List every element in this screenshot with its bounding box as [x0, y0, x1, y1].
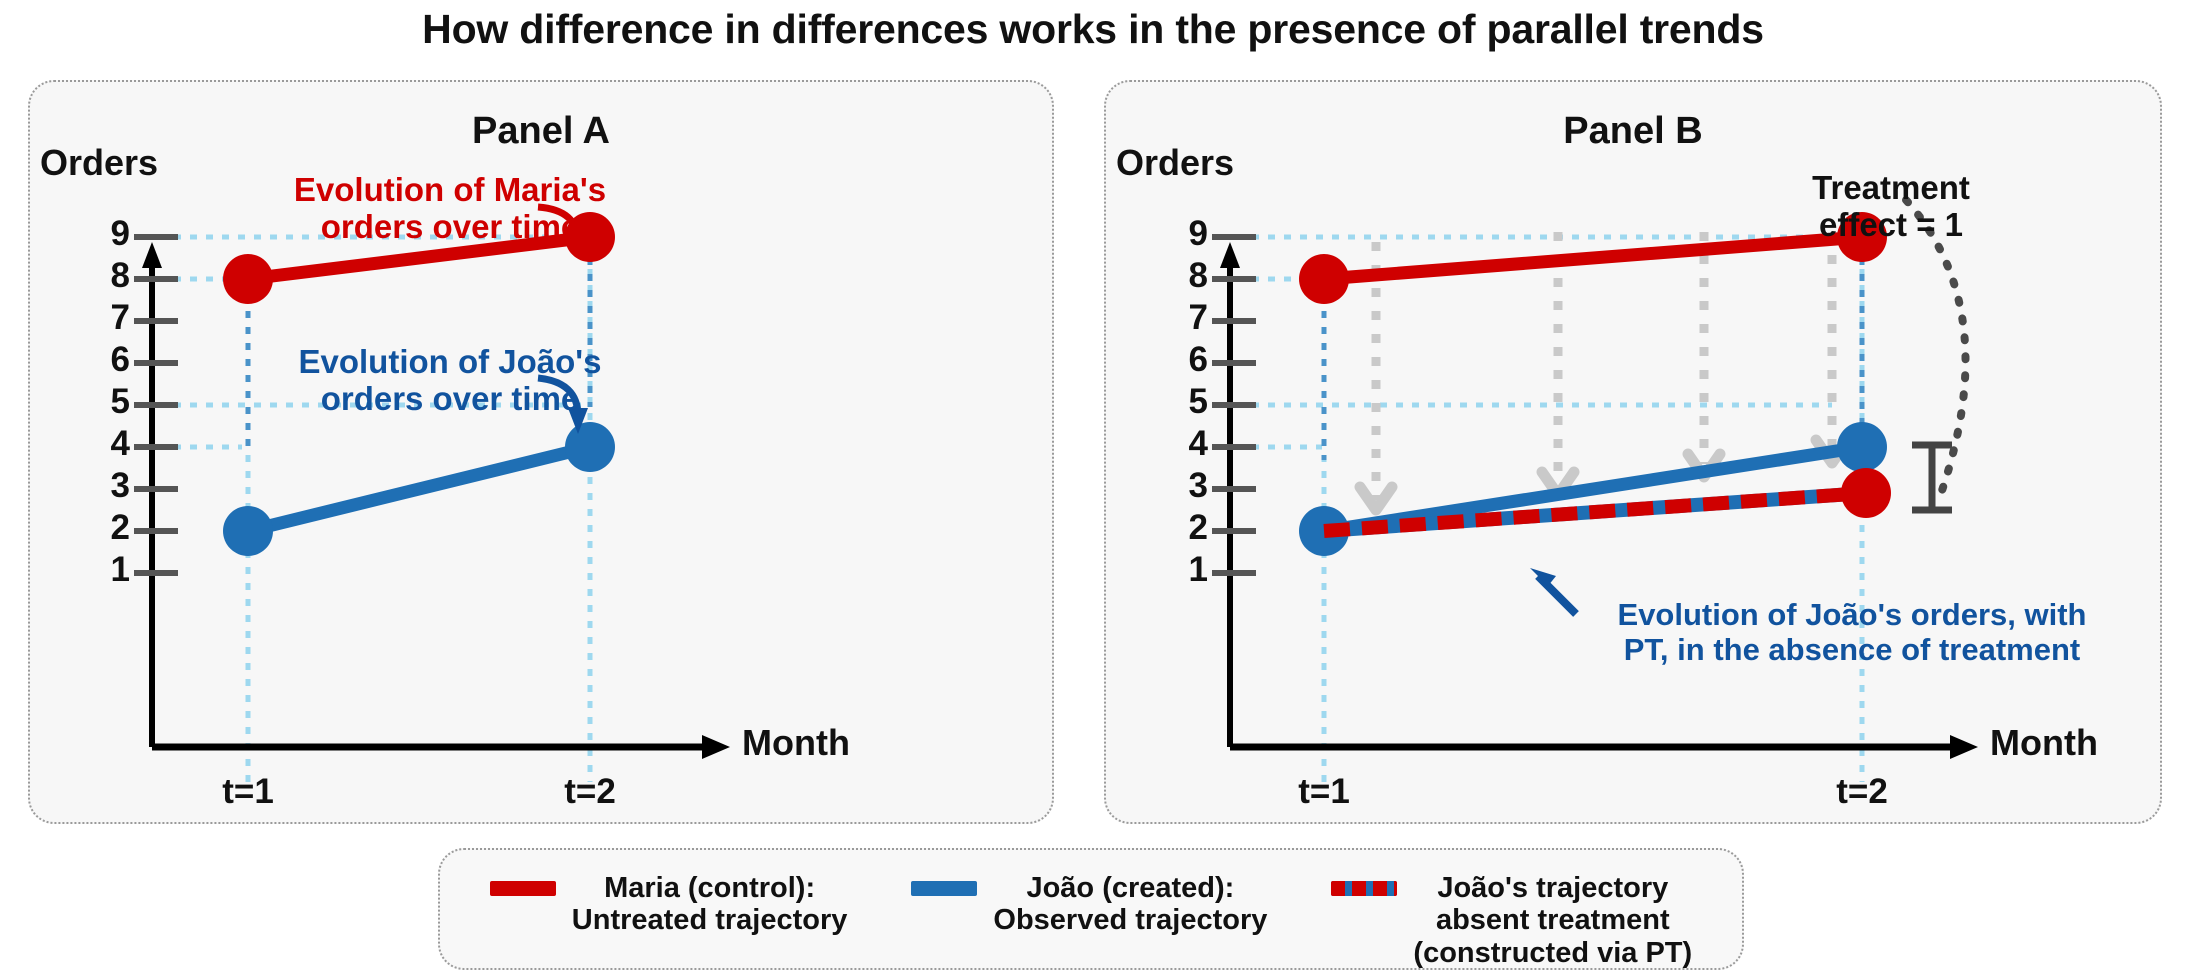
legend-swatch-counterfactual [1331, 881, 1397, 896]
panel-a-ytick-6: 6 [88, 340, 130, 380]
panel-a: Panel A [28, 80, 1054, 824]
panel-a-ytick-8: 8 [88, 256, 130, 296]
legend-label-joao: João (created): Observed trajectory [993, 872, 1267, 937]
treatment-effect-annotation-text: Treatment effect = 1 [1726, 170, 2056, 244]
panel-a-y-axis-label: Orders [40, 142, 158, 184]
legend-item-maria: Maria (control): Untreated trajectory [490, 872, 848, 937]
figure-root: How difference in differences works in t… [0, 0, 2186, 978]
panel-a-ytick-7: 7 [88, 298, 130, 338]
panel-b: Panel B [1104, 80, 2162, 824]
panel-a-ytick-4: 4 [88, 424, 130, 464]
y-axis-arrowhead-b [1220, 242, 1240, 268]
joao-point-t2-a [565, 422, 615, 472]
panel-a-ytick-5: 5 [88, 382, 130, 422]
joao-annotation-text-a: Evolution of João's orders over time [240, 344, 660, 418]
legend-swatch-maria [490, 881, 556, 896]
panel-b-x-axis-label: Month [1990, 722, 2098, 764]
joao-point-t2-b [1837, 422, 1887, 472]
legend-item-counterfactual: João's trajectory absent treatment (cons… [1331, 872, 1692, 969]
counterfactual-point-t2-b [1841, 468, 1891, 518]
joao-line-a [248, 447, 590, 531]
panel-a-ytick-2: 2 [88, 508, 130, 548]
legend-label-maria: Maria (control): Untreated trajectory [572, 872, 848, 937]
panel-b-ytick-8: 8 [1164, 256, 1208, 296]
panel-a-ytick-9: 9 [88, 214, 130, 254]
legend: Maria (control): Untreated trajectory Jo… [438, 848, 1744, 970]
panel-a-xtick-t2: t=2 [542, 772, 638, 812]
y-axis-arrowhead [142, 242, 162, 268]
panel-b-ytick-4: 4 [1164, 424, 1208, 464]
joao-point-t1-a [223, 506, 273, 556]
panel-b-ytick-5: 5 [1164, 382, 1208, 422]
legend-swatch-joao [911, 881, 977, 896]
panel-a-x-axis-label: Month [742, 722, 850, 764]
panel-a-ytick-3: 3 [88, 466, 130, 506]
y-tick-marks [134, 237, 178, 573]
panel-b-ytick-1: 1 [1164, 550, 1208, 590]
panel-b-ytick-3: 3 [1164, 466, 1208, 506]
gridlines-vertical [248, 237, 590, 782]
panel-b-ytick-9: 9 [1164, 214, 1208, 254]
y-tick-marks-b [1212, 237, 1256, 573]
panel-b-ytick-2: 2 [1164, 508, 1208, 548]
panel-b-ytick-7: 7 [1164, 298, 1208, 338]
panel-b-xtick-t1: t=1 [1276, 772, 1372, 812]
panel-b-xtick-t2: t=2 [1814, 772, 1910, 812]
legend-item-joao: João (created): Observed trajectory [911, 872, 1267, 937]
figure-title: How difference in differences works in t… [0, 6, 2186, 53]
panel-b-y-axis-label: Orders [1116, 142, 1234, 184]
counterfactual-annotation-text: Evolution of João's orders, with PT, in … [1572, 598, 2132, 667]
panel-a-xtick-t1: t=1 [200, 772, 296, 812]
maria-point-t1-a [223, 254, 273, 304]
maria-point-t1-b [1299, 254, 1349, 304]
x-axis-arrowhead-b [1950, 735, 1978, 759]
panel-a-ytick-1: 1 [88, 550, 130, 590]
treatment-effect-bracket [1912, 445, 1952, 510]
panel-b-ytick-6: 6 [1164, 340, 1208, 380]
legend-label-counterfactual: João's trajectory absent treatment (cons… [1413, 872, 1692, 969]
x-axis-arrowhead [702, 735, 730, 759]
treatment-effect-arrow [1906, 200, 1966, 502]
counterfactual-annotation-arrow [1538, 576, 1576, 614]
maria-annotation-text-a: Evolution of Maria's orders over time [240, 172, 660, 246]
